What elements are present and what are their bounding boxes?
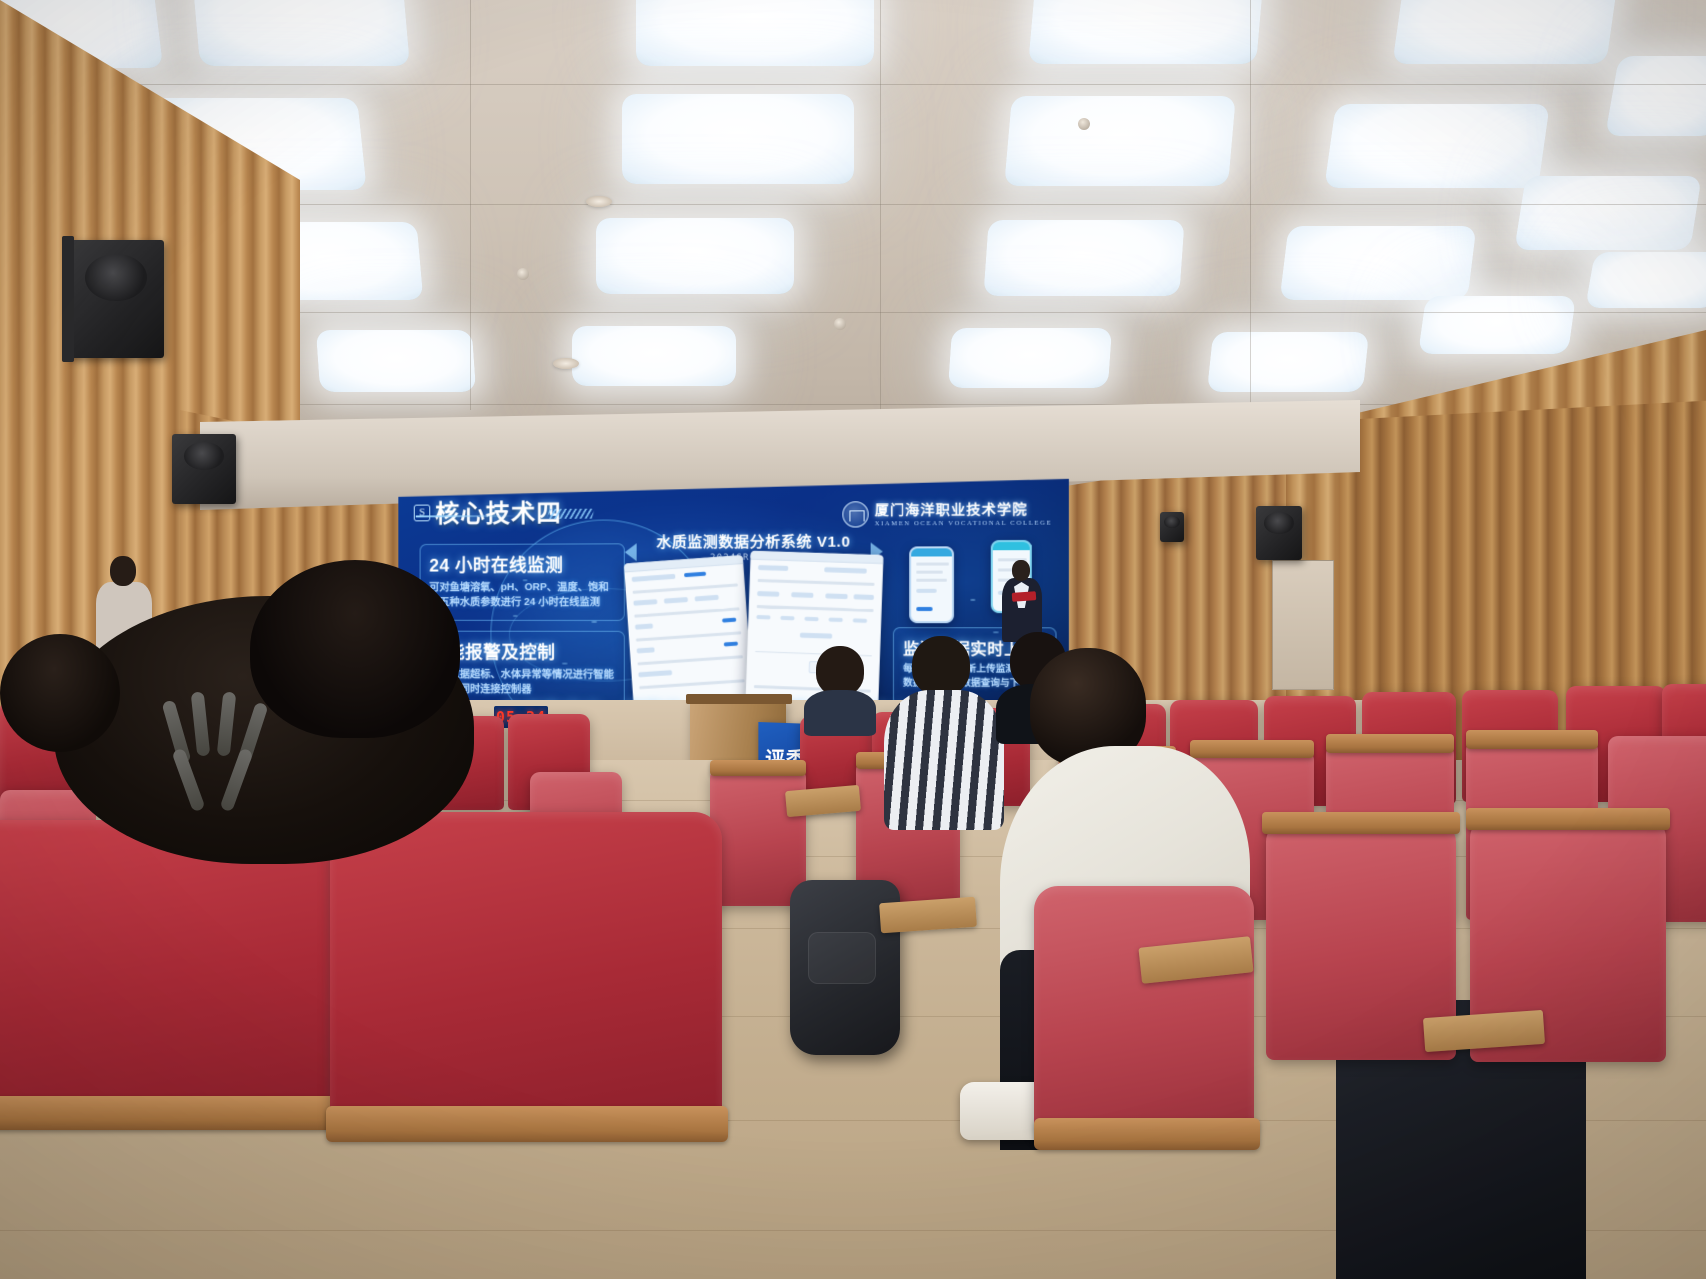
ceiling-panel-light [983, 220, 1184, 296]
ceiling-panel-light [316, 330, 476, 392]
college-emblem-icon [842, 501, 868, 527]
ceiling-panel-light [948, 328, 1112, 388]
ceiling-panel-light [1028, 0, 1264, 64]
attendee-seated [884, 636, 1004, 816]
podium-top [686, 694, 792, 704]
college-name-en: XIAMEN OCEAN VOCATIONAL COLLEGE [875, 520, 1053, 528]
attendee-foreground-left-3 [0, 634, 120, 754]
ceiling-panel-light [622, 94, 854, 184]
college-logo-icon: 厦门海洋职业技术学院 XIAMEN OCEAN VOCATIONAL COLLE… [842, 499, 1052, 527]
lecture-hall-scene: S 核心技术四 水质监测数据分析系统 V1.0 2024SR0945707 厦门… [0, 0, 1706, 1279]
loudspeaker-icon [1160, 512, 1184, 542]
heading-arrow-left-icon [625, 543, 637, 561]
loudspeaker-icon [68, 240, 164, 358]
section-badge-icon: S [414, 504, 430, 521]
title-decoration-icon [546, 509, 594, 519]
fire-sprinkler-icon [834, 318, 846, 330]
ceiling-panel-light [1279, 226, 1476, 300]
fire-sprinkler-icon [1078, 118, 1090, 130]
loudspeaker-icon [1256, 506, 1302, 560]
seat-row-near-right-trim [1466, 808, 1670, 830]
presenter-head [1012, 560, 1030, 581]
mobile-app-screenshot [909, 546, 954, 623]
fire-sprinkler-icon [517, 268, 529, 280]
slide-section-title: 核心技术四 [435, 494, 562, 530]
ceiling-downlight-icon [586, 196, 612, 207]
attendee-foreground-left-2 [250, 560, 460, 740]
ceiling-panel-light [1514, 176, 1702, 250]
seat-row-near-right-trim [1262, 812, 1460, 834]
ceiling-panel-light [1418, 296, 1576, 354]
ceiling-panel-light [1004, 96, 1236, 186]
ceiling-panel-light [1585, 252, 1706, 308]
college-name-cn: 厦门海洋职业技术学院 [875, 499, 1053, 520]
ceiling-panel-light [1207, 332, 1369, 392]
slide-section-header: S 核心技术四 [414, 494, 562, 530]
ceiling-panel-light [1324, 104, 1550, 188]
loudspeaker-icon [172, 434, 236, 504]
product-title: 水质监测数据分析系统 V1.0 [639, 530, 869, 552]
attendee-standing-head [110, 556, 136, 586]
speaker-mount [62, 236, 74, 362]
ceiling-seam [1250, 0, 1251, 410]
seat-foreground-right-trim [1034, 1118, 1260, 1150]
ceiling-panel-light [596, 218, 794, 294]
seat-foreground-left-trim [0, 1096, 338, 1130]
side-door[interactable] [1272, 560, 1334, 690]
ceiling-panel-light [572, 326, 736, 386]
app-screenshot-left [624, 555, 753, 711]
ceiling-panel-light [636, 0, 874, 66]
seat-foreground-center-trim [326, 1106, 728, 1142]
seat-backrest-trim [710, 760, 806, 776]
ceiling-seam [0, 84, 1706, 85]
attendee-seated [804, 646, 876, 724]
ceiling-panel-light [192, 0, 410, 66]
ceiling-panel-light [1605, 56, 1706, 136]
ceiling-downlight-icon [553, 358, 579, 369]
seat-backrest-trim [1326, 734, 1454, 753]
seat-foreground-right[interactable] [1034, 886, 1254, 1136]
ceiling-panel-light [1392, 0, 1618, 64]
seat-backrest-trim [1466, 730, 1598, 749]
ceiling-seam [880, 0, 881, 410]
ceiling-seam [470, 0, 471, 410]
seat-row-middle[interactable] [710, 768, 806, 906]
presenter-sash [1012, 591, 1037, 602]
